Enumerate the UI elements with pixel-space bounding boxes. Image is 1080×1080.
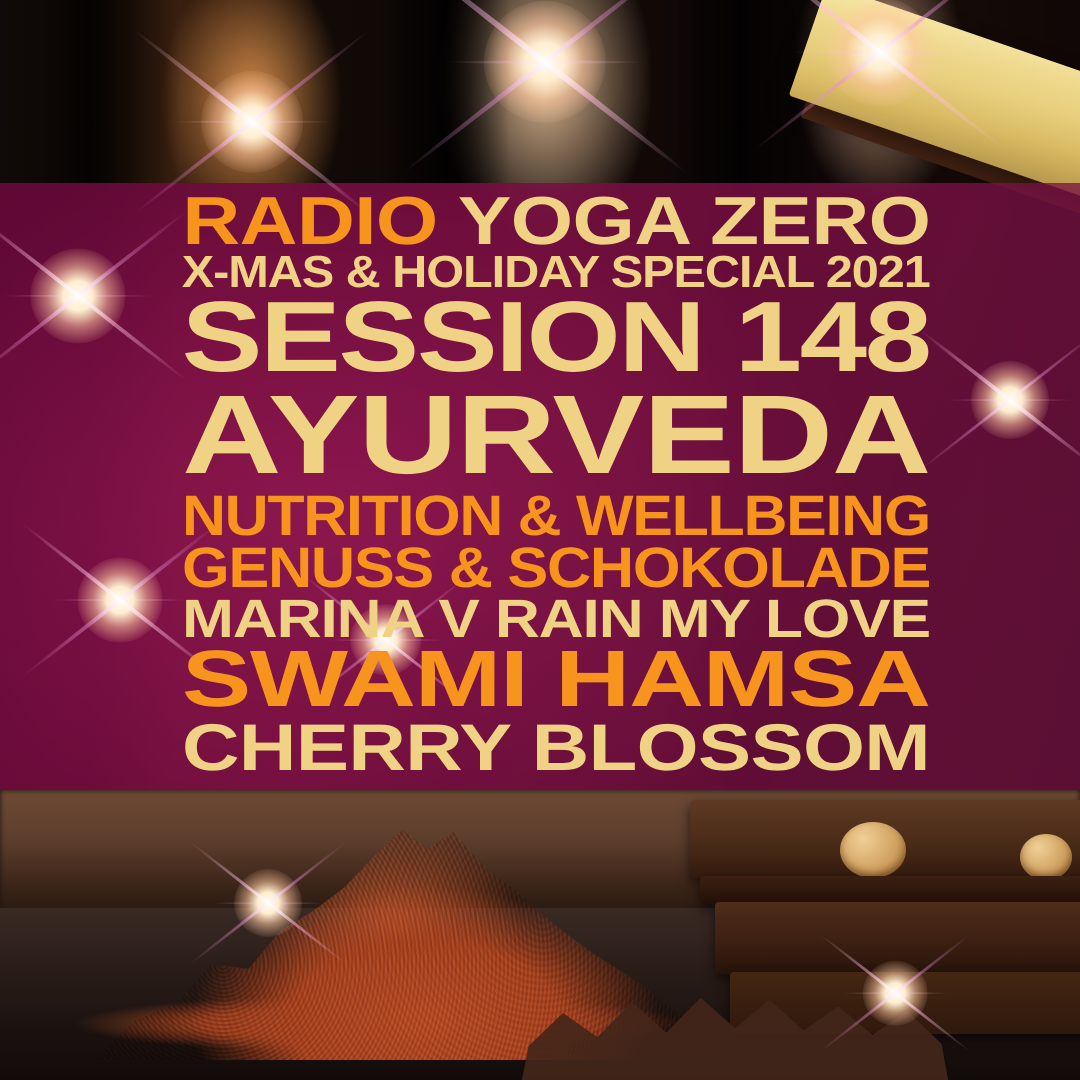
poster-canvas: RADIO YOGA ZERO X-MAS & HOLIDAY SPECIAL …: [0, 0, 1080, 1080]
line-artist-swami-hamsa: SWAMI HAMSA: [182, 645, 930, 719]
line-radio-yoga-zero: RADIO YOGA ZERO: [182, 192, 930, 253]
line-topic-ayurveda: AYURVEDA: [182, 387, 930, 493]
headline-text-block: RADIO YOGA ZERO X-MAS & HOLIDAY SPECIAL …: [182, 192, 930, 782]
food-scene: [0, 790, 1080, 1080]
hazelnut-icon: [1020, 834, 1072, 880]
chocolate-bar-row: [715, 902, 1080, 974]
line-track-cherry-blossom: CHERRY BLOSSOM: [182, 719, 930, 782]
hazelnut-icon: [840, 822, 906, 878]
chocolate-bar-row: [690, 800, 1080, 878]
chocolate-bar-row: [700, 876, 1080, 904]
